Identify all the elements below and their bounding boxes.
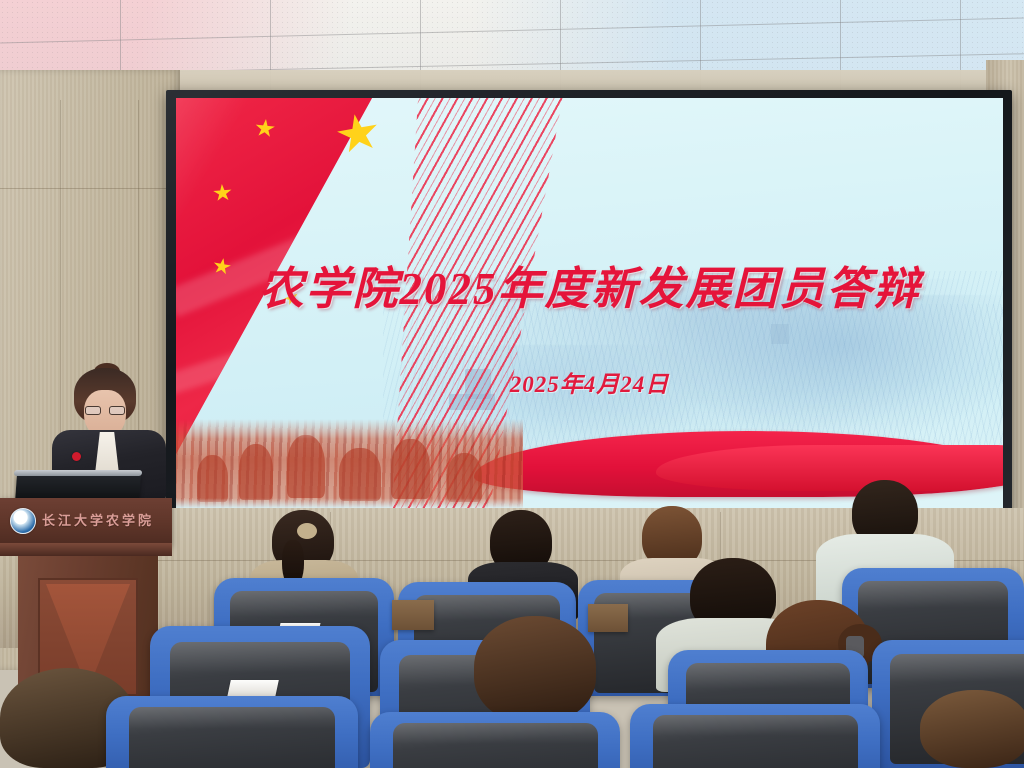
seat-desk[interactable] [392,600,434,630]
wall-seam [0,188,180,189]
relief-figure [287,435,325,498]
university-emblem-icon [10,508,36,534]
seat[interactable] [370,712,620,768]
podium-lip [0,543,172,556]
audience-person-head [474,616,596,722]
seat-highlight [653,715,858,737]
relief-figure [197,455,228,502]
seat-highlight [890,654,1024,682]
seat-highlight [230,591,378,617]
seat[interactable] [630,704,880,768]
laptop-edge [14,470,142,476]
hair-tie-icon [297,523,317,539]
relief-figure [339,448,381,500]
projection-screen: 农学院2025年度新发展团员答辩 2025年4月24日 [176,98,1003,509]
glasses-icon [85,406,125,415]
red-lapel-pin-icon [72,452,81,461]
slide-title: 农学院2025年度新发展团员答辩 [176,252,1003,317]
slide-date: 2025年4月24日 [176,365,1003,399]
seat-highlight [686,663,850,689]
soldier-relief-sculpture [176,419,523,509]
seat-highlight [129,707,336,729]
great-wall-tower [771,324,789,344]
podium-label: 长江大学农学院 [42,510,164,532]
audience-person-head [920,690,1024,768]
relief-figure [239,444,274,500]
relief-figure [447,453,482,502]
red-ribbon-banner-fold [656,445,1003,490]
seat[interactable] [106,696,358,768]
seat-highlight [858,581,1007,607]
seat-label [227,680,279,697]
seat-desk[interactable] [588,604,628,632]
seat-highlight [170,642,350,673]
lecture-hall-photo: 农学院2025年度新发展团员答辩 2025年4月24日 长江大学农学院 [0,0,1024,768]
seat-highlight [393,723,598,744]
relief-figure [391,439,429,499]
